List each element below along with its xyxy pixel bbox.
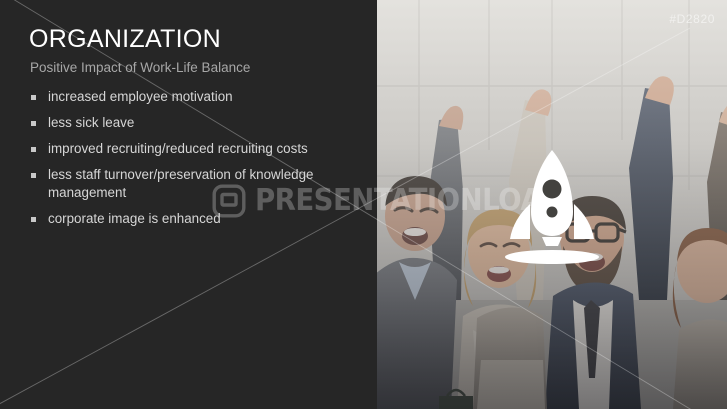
presentation-slide: #D2820 PRESENTATIONLOAD ORGANIZATION Pos… bbox=[0, 0, 727, 409]
list-item-label: corporate image is enhanced bbox=[48, 210, 221, 228]
page-subtitle: Positive Impact of Work-Life Balance bbox=[30, 60, 250, 75]
list-item: increased employee motivation bbox=[31, 88, 361, 106]
list-item: less staff turnover/preservation of know… bbox=[31, 166, 361, 202]
list-item: corporate image is enhanced bbox=[31, 210, 361, 228]
bullet-square-icon bbox=[31, 217, 36, 222]
bullet-square-icon bbox=[31, 121, 36, 126]
page-title: ORGANIZATION bbox=[29, 25, 221, 54]
list-item-label: increased employee motivation bbox=[48, 88, 233, 106]
list-item: improved recruiting/reduced recruiting c… bbox=[31, 140, 361, 158]
bullet-square-icon bbox=[31, 95, 36, 100]
hero-photo bbox=[377, 0, 727, 409]
slide-id-code: #D2820 bbox=[669, 12, 715, 26]
list-item-label: less sick leave bbox=[48, 114, 134, 132]
list-item-label: improved recruiting/reduced recruiting c… bbox=[48, 140, 308, 158]
bullet-square-icon bbox=[31, 173, 36, 178]
photo-illustration bbox=[377, 0, 727, 409]
bullet-square-icon bbox=[31, 147, 36, 152]
list-item: less sick leave bbox=[31, 114, 361, 132]
bullet-list: increased employee motivation less sick … bbox=[31, 88, 361, 236]
list-item-label: less staff turnover/preservation of know… bbox=[48, 166, 361, 202]
